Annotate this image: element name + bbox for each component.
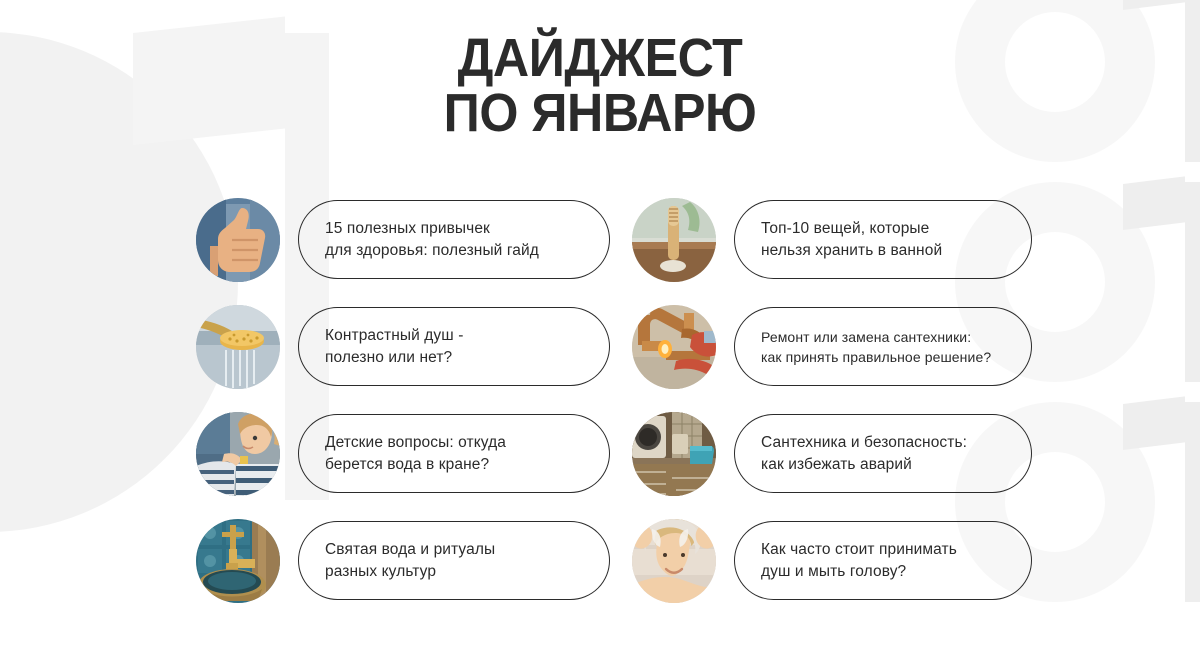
title-line-1: ДАЙДЖЕСТ [42, 31, 1158, 86]
digest-item-label: Ремонт или замена сантехники: как принят… [735, 327, 1007, 367]
holy-water-tap-photo [196, 519, 280, 603]
digest-row: Контрастный душ - полезно или нет?Ремонт… [0, 293, 1200, 400]
digest-item[interactable]: Детские вопросы: откуда берется вода в к… [196, 412, 610, 496]
page-title: ДАЙДЖЕСТ ПО ЯНВАРЮ [0, 31, 1200, 141]
watermark-one-flag [1123, 0, 1185, 10]
digest-item-label: Контрастный душ - полезно или нет? [299, 325, 479, 368]
digest-item-label: Как часто стоит принимать душ и мыть гол… [735, 539, 973, 582]
digest-row: 15 полезных привычек для здоровья: полез… [0, 186, 1200, 293]
digest-item-label: Святая вода и ритуалы разных культур [299, 539, 511, 582]
title-line-2: ПО ЯНВАРЮ [42, 86, 1158, 141]
digest-item[interactable]: Ремонт или замена сантехники: как принят… [632, 305, 1032, 389]
digest-item-pill[interactable]: Ремонт или замена сантехники: как принят… [734, 307, 1032, 386]
bamboo-toothbrush-photo [632, 198, 716, 282]
woman-washing-hair-photo [632, 519, 716, 603]
digest-item-label: Топ-10 вещей, которые нельзя хранить в в… [735, 218, 958, 261]
digest-item-label: 15 полезных привычек для здоровья: полез… [299, 218, 555, 261]
digest-item-pill[interactable]: 15 полезных привычек для здоровья: полез… [298, 200, 610, 279]
digest-item-pill[interactable]: Топ-10 вещей, которые нельзя хранить в в… [734, 200, 1032, 279]
digest-item-pill[interactable]: Детские вопросы: откуда берется вода в к… [298, 414, 610, 493]
digest-item-label: Детские вопросы: откуда берется вода в к… [299, 432, 522, 475]
digest-item-pill[interactable]: Святая вода и ритуалы разных культур [298, 521, 610, 600]
digest-items-grid: 15 полезных привычек для здоровья: полез… [0, 186, 1200, 614]
digest-item[interactable]: Контрастный душ - полезно или нет? [196, 305, 610, 389]
digest-item[interactable]: 15 полезных привычек для здоровья: полез… [196, 198, 610, 282]
digest-item-pill[interactable]: Как часто стоит принимать душ и мыть гол… [734, 521, 1032, 600]
digest-row: Детские вопросы: откуда берется вода в к… [0, 400, 1200, 507]
flooded-bathroom-photo [632, 412, 716, 496]
digest-item[interactable]: Сантехника и безопасность: как избежать … [632, 412, 1032, 496]
digest-item[interactable]: Святая вода и ритуалы разных культур [196, 519, 610, 603]
digest-item-label: Сантехника и безопасность: как избежать … [735, 432, 983, 475]
digest-row: Святая вода и ритуалы разных культурКак … [0, 507, 1200, 614]
digest-poster: ДАЙДЖЕСТ ПО ЯНВАРЮ 15 полезных привычек … [0, 0, 1200, 672]
child-at-tap-photo [196, 412, 280, 496]
plumber-soldering-photo [632, 305, 716, 389]
digest-item[interactable]: Топ-10 вещей, которые нельзя хранить в в… [632, 198, 1032, 282]
thumbs-up-photo [196, 198, 280, 282]
digest-item[interactable]: Как часто стоит принимать душ и мыть гол… [632, 519, 1032, 603]
digest-item-pill[interactable]: Сантехника и безопасность: как избежать … [734, 414, 1032, 493]
digest-item-pill[interactable]: Контрастный душ - полезно или нет? [298, 307, 610, 386]
shower-head-photo [196, 305, 280, 389]
